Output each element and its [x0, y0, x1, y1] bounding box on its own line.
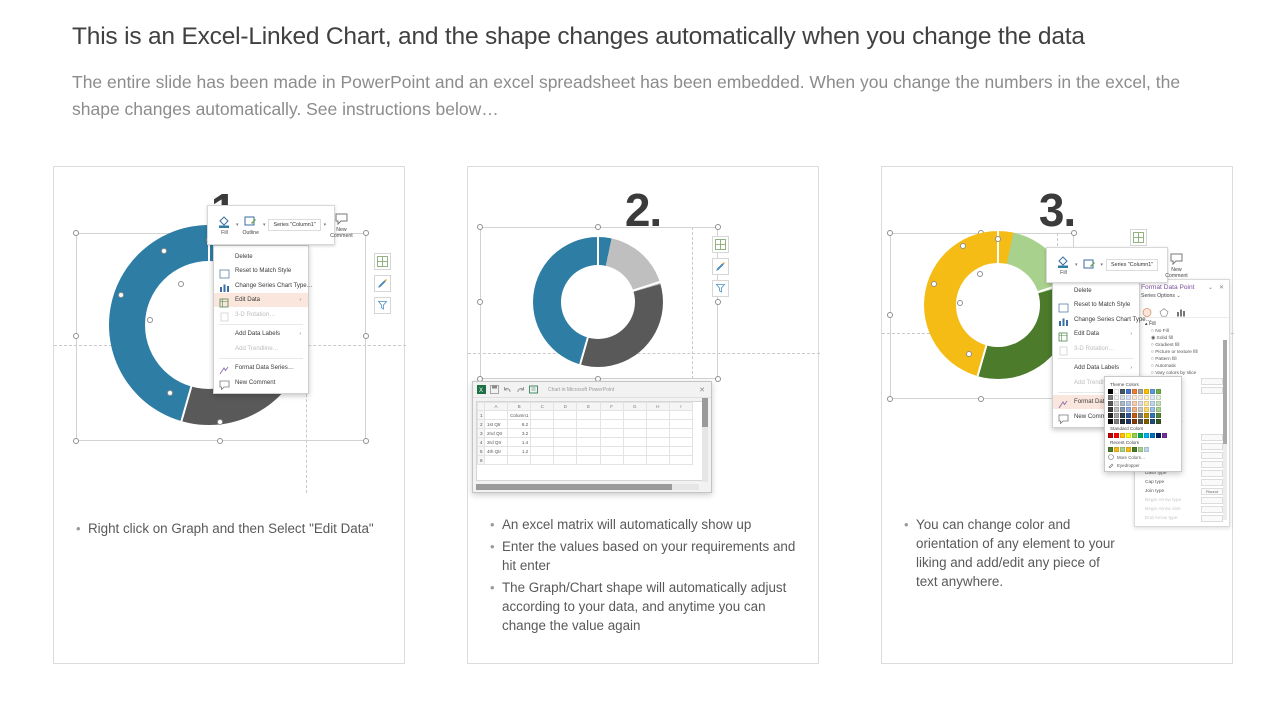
cell-b1[interactable]: Column1 — [508, 411, 531, 420]
menu-item-delete[interactable]: Delete — [1053, 283, 1139, 298]
color-swatch[interactable] — [1156, 413, 1161, 418]
cell-a1[interactable] — [485, 411, 508, 420]
color-swatch[interactable] — [1156, 389, 1161, 394]
cell-empty[interactable] — [600, 429, 623, 438]
fill-option-pattern-fill[interactable]: ○ Pattern fill — [1135, 356, 1229, 363]
chevron-down-icon[interactable]: ⌄ — [1176, 293, 1180, 299]
submenu-arrow-icon[interactable]: › — [299, 331, 301, 337]
menu-item-label: New Comment — [235, 379, 301, 386]
menu-item-reset-to-match-style[interactable]: Reset to Match Style — [1053, 298, 1139, 313]
chart-elements-plus-icon[interactable] — [712, 236, 729, 253]
theme-color-column — [1156, 389, 1161, 424]
excel-grid[interactable]: ABCDEFGHI1Column121st Qtr8.232nd Qtr3.24… — [476, 401, 708, 481]
color-swatch[interactable] — [1114, 419, 1119, 424]
recent-colors-row[interactable] — [1108, 447, 1178, 452]
edit-data-icon — [1058, 329, 1069, 339]
corner-cell[interactable] — [478, 403, 485, 411]
table-row-label[interactable]: 1st Qtr — [485, 420, 508, 429]
fill-button[interactable]: Fill — [1052, 255, 1075, 276]
context-menu-1[interactable]: DeleteReset to Match StyleChange Series … — [213, 245, 309, 394]
series-options-text: Series Options — [1141, 293, 1175, 299]
cell-empty[interactable] — [485, 456, 508, 465]
menu-item-format-data-series[interactable]: Format Data Series… — [214, 361, 308, 376]
color-swatch[interactable] — [1126, 447, 1131, 452]
fill-paint-icon[interactable] — [1142, 304, 1152, 313]
datapoint-handle[interactable] — [178, 281, 184, 287]
resize-handle-sw[interactable] — [73, 438, 79, 444]
color-swatch[interactable] — [1132, 407, 1137, 412]
card-step-1: 1. — [53, 166, 405, 664]
menu-item-reset-to-match-style[interactable]: Reset to Match Style — [214, 264, 308, 279]
color-swatch[interactable] — [1108, 401, 1113, 406]
datapoint-handle[interactable] — [966, 351, 972, 357]
field-control[interactable] — [1201, 443, 1223, 450]
color-swatch[interactable] — [1144, 447, 1149, 452]
menu-item-change-series-chart-type[interactable]: Change Series Chart Type… — [214, 278, 308, 293]
cell-empty[interactable] — [554, 447, 577, 456]
series-options-label[interactable]: Series Options ⌄ — [1135, 293, 1229, 302]
excel-title-bar[interactable]: X Chart in Microsoft PowerPoint ✕ — [473, 382, 711, 398]
menu-item-add-trendline: Add Trendline… — [214, 341, 308, 356]
field-control[interactable] — [1201, 470, 1223, 477]
fill-option-gradient-fill[interactable]: ○ Gradient fill — [1135, 342, 1229, 349]
color-swatch[interactable] — [1138, 395, 1143, 400]
fill-label: Fill — [221, 230, 228, 236]
menu-separator — [219, 358, 303, 359]
row-header[interactable]: 3 — [478, 429, 485, 438]
cell-empty[interactable] — [646, 456, 669, 465]
more-colors-label: More Colors… — [1117, 455, 1145, 460]
color-swatch[interactable] — [1126, 433, 1131, 438]
table-row-value[interactable]: 1.4 — [508, 438, 531, 447]
cell-empty[interactable] — [646, 429, 669, 438]
header: This is an Excel-Linked Chart, and the s… — [72, 22, 1212, 123]
color-swatch[interactable] — [1126, 401, 1131, 406]
cell-empty[interactable] — [531, 447, 554, 456]
color-swatch[interactable] — [1114, 413, 1119, 418]
color-swatch[interactable] — [1120, 413, 1125, 418]
row-header[interactable]: 2 — [478, 420, 485, 429]
cell-empty[interactable] — [600, 438, 623, 447]
fill-option-automatic[interactable]: ○ Automatic — [1135, 363, 1229, 370]
color-swatch[interactable] — [1144, 389, 1149, 394]
color-swatch[interactable] — [1120, 389, 1125, 394]
color-swatch[interactable] — [1126, 389, 1131, 394]
color-swatch[interactable] — [1120, 433, 1125, 438]
row-header[interactable]: 1 — [478, 411, 485, 420]
cell-empty[interactable] — [577, 411, 600, 420]
mini-toolbar[interactable]: Fill ▾ Outline ▾ Series "Column1" ▾ New … — [207, 205, 335, 245]
table-row-label[interactable]: 4th Qtr — [485, 447, 508, 456]
outline-pencil-icon — [243, 215, 258, 229]
color-swatch[interactable] — [1120, 401, 1125, 406]
theme-color-column — [1138, 389, 1143, 424]
row-header[interactable]: 5 — [478, 447, 485, 456]
color-swatch[interactable] — [1132, 395, 1137, 400]
field-control[interactable] — [1201, 434, 1223, 441]
resize-handle-nw[interactable] — [73, 230, 79, 236]
bullet-list-1: • Right click on Graph and then Select "… — [76, 519, 390, 541]
datapoint-handle[interactable] — [217, 419, 223, 425]
cell-empty[interactable] — [554, 411, 577, 420]
color-swatch[interactable] — [1156, 395, 1161, 400]
chart-styles-brush-icon[interactable] — [374, 275, 391, 292]
color-swatch[interactable] — [1138, 389, 1143, 394]
color-swatch[interactable] — [1144, 395, 1149, 400]
close-icon[interactable]: ✕ — [699, 386, 707, 394]
bullet-dot: • — [490, 515, 502, 534]
color-swatch[interactable] — [1114, 401, 1119, 406]
bullet-dot: • — [490, 537, 502, 556]
new-comment-button[interactable]: New Comment — [1161, 252, 1191, 279]
color-swatch[interactable] — [1138, 413, 1143, 418]
reset-style-icon — [1058, 300, 1069, 310]
series-bars-icon[interactable] — [1176, 304, 1186, 313]
resize-handle-w[interactable] — [887, 312, 893, 318]
datapoint-handle[interactable] — [977, 271, 983, 277]
cell-empty[interactable] — [554, 438, 577, 447]
delete-icon — [219, 251, 230, 261]
resize-handle-se[interactable] — [363, 438, 369, 444]
resize-handle-e[interactable] — [715, 299, 721, 305]
resize-handle-sw[interactable] — [887, 396, 893, 402]
color-swatch[interactable] — [1120, 447, 1125, 452]
table-row-value[interactable]: 3.2 — [508, 429, 531, 438]
row-header[interactable]: 6 — [478, 456, 485, 465]
excel-vertical-scrollbar[interactable] — [702, 398, 708, 482]
color-swatch[interactable] — [1120, 407, 1125, 412]
cell-empty[interactable] — [531, 429, 554, 438]
format-series-icon — [219, 363, 230, 373]
color-swatch[interactable] — [1126, 407, 1131, 412]
color-picker-flyout[interactable]: Theme Colors Standard Colors Recent Colo… — [1104, 376, 1182, 472]
color-swatch[interactable] — [1132, 413, 1137, 418]
cell-empty[interactable] — [623, 429, 646, 438]
cell-empty[interactable] — [623, 447, 646, 456]
cell-empty[interactable] — [554, 420, 577, 429]
menu-item-delete[interactable]: Delete — [214, 249, 308, 264]
color-swatch[interactable] — [1120, 395, 1125, 400]
table-row-label[interactable]: 3rd Qtr — [485, 438, 508, 447]
field-control[interactable] — [1201, 452, 1223, 459]
color-swatch[interactable] — [1144, 419, 1149, 424]
table-row-label[interactable]: 2nd Qtr — [485, 429, 508, 438]
submenu-arrow-icon[interactable]: › — [1130, 331, 1132, 337]
color-swatch[interactable] — [1144, 407, 1149, 412]
color-swatch[interactable] — [1108, 407, 1113, 412]
menu-item-add-data-labels[interactable]: Add Data Labels› — [214, 327, 308, 342]
menu-item-label: Edit Data — [235, 296, 293, 303]
column-header-F[interactable]: F — [600, 403, 623, 411]
cell-empty[interactable] — [577, 429, 600, 438]
color-swatch[interactable] — [1162, 433, 1167, 438]
datapoint-handle[interactable] — [147, 317, 153, 323]
undo-icon — [503, 385, 512, 394]
color-swatch[interactable] — [1108, 389, 1113, 394]
border-field-cap-type[interactable]: Cap type — [1135, 478, 1229, 487]
resize-handle-ne[interactable] — [715, 224, 721, 230]
border-field-join-type[interactable]: Join typeRound — [1135, 487, 1229, 496]
fill-button[interactable]: Fill — [213, 215, 236, 236]
cell-empty[interactable] — [531, 411, 554, 420]
cell-empty[interactable] — [600, 411, 623, 420]
column-header-C[interactable]: C — [531, 403, 554, 411]
border-field-begin-arrow-type: Begin Arrow type — [1135, 496, 1229, 505]
list-item: • Enter the values based on your require… — [490, 537, 804, 575]
cards-container: 1. — [53, 166, 1233, 664]
menu-item-add-data-labels[interactable]: Add Data Labels› — [1053, 361, 1139, 376]
datapoint-handle[interactable] — [118, 292, 124, 298]
color-swatch[interactable] — [1156, 419, 1161, 424]
resize-handle-se[interactable] — [715, 376, 721, 382]
theme-colors-grid[interactable] — [1108, 389, 1178, 424]
save-icon — [490, 385, 499, 394]
color-swatch[interactable] — [1114, 407, 1119, 412]
color-swatch[interactable] — [1108, 395, 1113, 400]
cell-empty[interactable] — [669, 456, 692, 465]
color-swatch[interactable] — [1114, 389, 1119, 394]
effects-pentagon-icon[interactable] — [1159, 304, 1169, 313]
more-colors-button[interactable]: More Colors… — [1108, 454, 1178, 460]
datapoint-handle[interactable] — [931, 281, 937, 287]
color-swatch[interactable] — [1156, 401, 1161, 406]
field-control[interactable] — [1201, 479, 1223, 486]
cell-empty[interactable] — [669, 420, 692, 429]
cell-empty[interactable] — [669, 429, 692, 438]
new-comment-button[interactable]: New Comment — [326, 212, 356, 239]
excel-horizontal-scrollbar[interactable] — [476, 484, 699, 490]
resize-handle-w[interactable] — [477, 299, 483, 305]
color-swatch[interactable] — [1114, 447, 1119, 452]
cell-empty[interactable] — [508, 456, 531, 465]
outline-dropdown-arrow[interactable]: ▾ — [263, 222, 266, 228]
bullet-dot: • — [490, 578, 502, 597]
resize-handle-nw[interactable] — [477, 224, 483, 230]
bullet-list-2: • An excel matrix will automatically sho… — [490, 515, 804, 638]
column-header-B[interactable]: B — [508, 403, 531, 411]
bullet-text: Right click on Graph and then Select "Ed… — [88, 519, 374, 538]
eyedropper-button[interactable]: Eyedropper — [1108, 462, 1178, 468]
field-control[interactable]: Round — [1201, 488, 1223, 495]
cell-empty[interactable] — [600, 420, 623, 429]
color-swatch[interactable] — [1144, 433, 1149, 438]
color-swatch[interactable] — [1150, 395, 1155, 400]
fill-bucket-icon — [217, 215, 232, 229]
cell-empty[interactable] — [577, 456, 600, 465]
submenu-arrow-icon[interactable]: › — [299, 297, 301, 303]
color-swatch[interactable] — [1138, 447, 1143, 452]
chart-stage-3: Fill ▾ ▾ Series "Column1" New Comment De… — [882, 233, 1234, 533]
color-swatch[interactable] — [1150, 401, 1155, 406]
chart-side-buttons — [1130, 229, 1147, 246]
field-control[interactable] — [1201, 461, 1223, 468]
color-swatch[interactable] — [1114, 395, 1119, 400]
slice-divider — [997, 231, 999, 305]
rotation-icon — [1058, 343, 1069, 353]
open-in-excel-icon — [529, 385, 538, 394]
standard-colors-row[interactable] — [1108, 433, 1178, 438]
field-control[interactable] — [1201, 378, 1223, 385]
cell-empty[interactable] — [531, 420, 554, 429]
fill-option-solid-fill[interactable]: ◉ Solid fill — [1135, 335, 1229, 342]
resize-handle-nw[interactable] — [887, 230, 893, 236]
datapoint-handle[interactable] — [995, 236, 1001, 242]
cell-empty[interactable] — [646, 447, 669, 456]
fill-option-picture-or-texture-fill[interactable]: ○ Picture or texture fill — [1135, 349, 1229, 356]
theme-color-column — [1114, 389, 1119, 424]
chart-filters-funnel-icon[interactable] — [374, 297, 391, 314]
reset-style-icon — [219, 266, 230, 276]
row-header[interactable]: 4 — [478, 438, 485, 447]
color-swatch[interactable] — [1144, 413, 1149, 418]
menu-item-edit-data[interactable]: Edit Data› — [214, 293, 308, 308]
chart-styles-brush-icon[interactable] — [712, 258, 729, 275]
resize-handle-e[interactable] — [363, 333, 369, 339]
column-header-D[interactable]: D — [554, 403, 577, 411]
theme-color-column — [1132, 389, 1137, 424]
outline-pencil-icon — [1082, 258, 1097, 272]
color-swatch[interactable] — [1138, 407, 1143, 412]
chart-filters-funnel-icon[interactable] — [712, 280, 729, 297]
color-swatch[interactable] — [1132, 401, 1137, 406]
field-control — [1201, 515, 1223, 522]
submenu-arrow-icon[interactable]: › — [1130, 365, 1132, 371]
cell-empty[interactable] — [646, 420, 669, 429]
close-icon[interactable]: ✕ — [1219, 284, 1224, 291]
color-swatch[interactable] — [1150, 413, 1155, 418]
cell-empty[interactable] — [669, 438, 692, 447]
cell-empty[interactable] — [623, 456, 646, 465]
page-subtitle: The entire slide has been made in PowerP… — [72, 69, 1200, 123]
menu-item-new-comment[interactable]: New Comment — [214, 375, 308, 390]
outline-button[interactable] — [1078, 258, 1101, 272]
color-swatch[interactable] — [1132, 389, 1137, 394]
cell-empty[interactable] — [623, 411, 646, 420]
color-swatch[interactable] — [1150, 389, 1155, 394]
eyedropper-icon — [1108, 462, 1114, 468]
pin-icon[interactable]: ⌄ — [1208, 284, 1213, 291]
border-field-begin-arrow-size: Begin Arrow size — [1135, 505, 1229, 514]
cell-empty[interactable] — [554, 429, 577, 438]
cell-empty[interactable] — [646, 438, 669, 447]
cell-empty[interactable] — [623, 438, 646, 447]
color-swatch[interactable] — [1132, 419, 1137, 424]
menu-item-label: 3-D Rotation… — [1074, 345, 1132, 352]
cell-empty[interactable] — [669, 411, 692, 420]
excel-window[interactable]: X Chart in Microsoft PowerPoint ✕ ABCDEF… — [472, 381, 712, 493]
color-swatch[interactable] — [1126, 395, 1131, 400]
resize-handle-w[interactable] — [73, 333, 79, 339]
column-header-A[interactable]: A — [485, 403, 508, 411]
cell-empty[interactable] — [577, 438, 600, 447]
table-row-value[interactable]: 1.2 — [508, 447, 531, 456]
redo-icon — [516, 385, 525, 394]
chart-elements-plus-icon[interactable] — [1130, 229, 1147, 246]
cell-empty[interactable] — [646, 411, 669, 420]
column-header-E[interactable]: E — [577, 403, 600, 411]
color-swatch[interactable] — [1144, 401, 1149, 406]
cell-empty[interactable] — [531, 456, 554, 465]
chart-elements-plus-icon[interactable] — [374, 253, 391, 270]
color-swatch[interactable] — [1156, 433, 1161, 438]
datapoint-handle[interactable] — [161, 248, 167, 254]
cell-empty[interactable] — [554, 456, 577, 465]
color-swatch[interactable] — [1150, 433, 1155, 438]
menu-item-edit-data[interactable]: Edit Data› — [1053, 327, 1139, 342]
color-swatch[interactable] — [1120, 419, 1125, 424]
color-swatch[interactable] — [1108, 419, 1113, 424]
datapoint-handle[interactable] — [960, 243, 966, 249]
menu-item-label: Delete — [1074, 287, 1132, 294]
series-select[interactable]: Series "Column1" — [268, 219, 320, 231]
cell-empty[interactable] — [600, 456, 623, 465]
spreadsheet-table[interactable]: ABCDEFGHI1Column121st Qtr8.232nd Qtr3.24… — [477, 402, 693, 465]
theme-color-column — [1120, 389, 1125, 424]
cell-empty[interactable] — [669, 447, 692, 456]
menu-item-change-series-chart-type[interactable]: Change Series Chart Type… — [1053, 312, 1139, 327]
fill-option-no-fill[interactable]: ○ No Fill — [1135, 328, 1229, 335]
color-swatch[interactable] — [1132, 447, 1137, 452]
outline-button[interactable]: Outline — [239, 215, 263, 236]
format-pane-scrollbar[interactable] — [1223, 340, 1227, 520]
color-swatch[interactable] — [1108, 413, 1113, 418]
outline-dropdown-arrow[interactable]: ▾ — [1101, 262, 1104, 268]
color-swatch[interactable] — [1108, 447, 1113, 452]
color-swatch[interactable] — [1114, 433, 1119, 438]
column-header-H[interactable]: H — [646, 403, 669, 411]
cell-empty[interactable] — [623, 420, 646, 429]
delete-icon — [1058, 285, 1069, 295]
resize-handle-ne[interactable] — [1071, 230, 1077, 236]
mini-toolbar[interactable]: Fill ▾ ▾ Series "Column1" New Comment — [1046, 247, 1168, 283]
color-swatch[interactable] — [1126, 413, 1131, 418]
column-header-I[interactable]: I — [669, 403, 692, 411]
cell-empty[interactable] — [600, 447, 623, 456]
datapoint-handle[interactable] — [167, 390, 173, 396]
resize-handle-ne[interactable] — [363, 230, 369, 236]
color-swatch[interactable] — [1156, 407, 1161, 412]
resize-handle-s[interactable] — [217, 438, 223, 444]
color-swatch[interactable] — [1126, 419, 1131, 424]
menu-item-3-d-rotation: 3-D Rotation… — [214, 307, 308, 322]
cell-empty[interactable] — [577, 420, 600, 429]
resize-handle-s[interactable] — [978, 396, 984, 402]
excel-window-title: Chart in Microsoft PowerPoint — [548, 387, 614, 393]
color-swatch[interactable] — [1138, 419, 1143, 424]
column-header-G[interactable]: G — [623, 403, 646, 411]
resize-handle-n[interactable] — [595, 224, 601, 230]
color-swatch[interactable] — [1138, 401, 1143, 406]
color-swatch[interactable] — [1150, 419, 1155, 424]
cell-empty[interactable] — [531, 438, 554, 447]
field-control[interactable] — [1201, 387, 1223, 394]
theme-colors-header: Theme Colors — [1110, 382, 1178, 387]
series-select[interactable]: Series "Column1" — [1106, 259, 1158, 271]
menu-separator — [1058, 358, 1134, 359]
trendline-icon — [219, 343, 230, 353]
chart-type-icon — [1058, 314, 1069, 324]
datapoint-handle[interactable] — [957, 300, 963, 306]
color-swatch[interactable] — [1150, 407, 1155, 412]
color-swatch[interactable] — [1138, 433, 1143, 438]
excel-app-icon: X — [477, 385, 486, 394]
cell-empty[interactable] — [577, 447, 600, 456]
table-row-value[interactable]: 8.2 — [508, 420, 531, 429]
slice-divider — [597, 237, 599, 302]
color-swatch[interactable] — [1132, 433, 1137, 438]
new-comment-label: New Comment — [330, 227, 352, 239]
color-swatch[interactable] — [1108, 433, 1113, 438]
